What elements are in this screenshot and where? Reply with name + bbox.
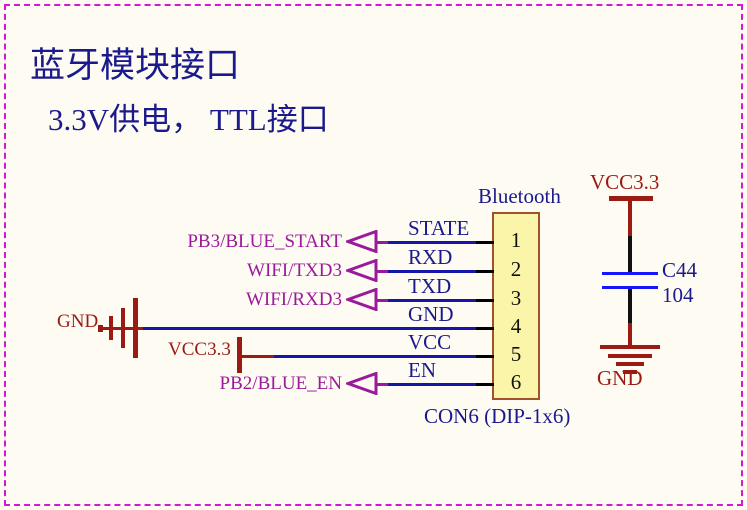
vcc-stem-top (628, 198, 632, 238)
wire-pin5-blue (274, 355, 476, 358)
wire-pin4-blue (143, 327, 476, 330)
net-arrow-wifi-txd3[interactable] (346, 259, 378, 282)
capacitor-designator: C44 (662, 260, 697, 281)
gnd-label-left: GND (57, 312, 98, 331)
net-arrow-pb3-blue-start[interactable] (346, 230, 378, 253)
pin-number-6: 6 (492, 372, 540, 393)
gnd-bar-large-left (133, 298, 138, 358)
gnd-bar-mid-left (121, 308, 125, 348)
wire-pin3-blue (388, 299, 476, 302)
pin-label-rxd: RXD (408, 247, 452, 268)
wire-pin6-blue (388, 383, 476, 386)
net-label-pb3-blue-start[interactable]: PB3/BLUE_START (136, 232, 342, 251)
wire-pin1-blue (388, 241, 476, 244)
net-arrow-pb2-blue-en[interactable] (346, 372, 378, 395)
vcc-label-top: VCC3.3 (590, 172, 659, 193)
pin-label-gnd: GND (408, 304, 454, 325)
schematic-canvas: 蓝牙模块接口 3.3V供电， TTL接口 Bluetooth 1 2 3 4 5… (0, 0, 747, 510)
connector-caption: CON6 (DIP-1x6) (424, 406, 570, 427)
pin-label-txd: TXD (408, 276, 451, 297)
vcc-bar-middle[interactable] (237, 337, 242, 373)
gnd-bar-small-left (109, 316, 113, 340)
pin-label-vcc: VCC (408, 332, 451, 353)
gnd-bar-2-bottom (608, 354, 652, 358)
net-label-wifi-txd3[interactable]: WIFI/TXD3 (136, 261, 342, 280)
net-label-pb2-blue-en[interactable]: PB2/BLUE_EN (136, 374, 342, 393)
wire-pin4-black (476, 327, 494, 330)
pin-number-3: 3 (492, 288, 540, 309)
wire-cap-top (628, 236, 632, 272)
wire-pin2-black (476, 270, 494, 273)
capacitor-plate-top[interactable] (602, 272, 658, 275)
gnd-bar-1-bottom (600, 345, 660, 349)
page-title: 蓝牙模块接口 (30, 48, 240, 83)
page-subtitle: 3.3V供电， TTL接口 (48, 104, 329, 135)
wire-pin5-red (240, 355, 274, 358)
pin-number-4: 4 (492, 316, 540, 337)
gnd-label-bottom: GND (597, 368, 643, 389)
pin-number-2: 2 (492, 259, 540, 280)
wire-pin6-black (476, 383, 494, 386)
capacitor-value: 104 (662, 285, 694, 306)
net-label-wifi-rxd3[interactable]: WIFI/RXD3 (136, 290, 342, 309)
wire-pin5-black (476, 355, 494, 358)
wire-pin2-blue (388, 270, 476, 273)
pin-label-en: EN (408, 360, 436, 381)
pin-number-5: 5 (492, 344, 540, 365)
pin-label-state: STATE (408, 218, 469, 239)
wire-pin1-black (476, 241, 494, 244)
gnd-dot-left (98, 325, 103, 332)
vcc-label-middle: VCC3.3 (168, 340, 231, 359)
wire-pin3-black (476, 299, 494, 302)
wire-cap-bottom (628, 289, 632, 325)
pin-number-1: 1 (492, 230, 540, 251)
net-arrow-wifi-rxd3[interactable] (346, 288, 378, 311)
connector-designator: Bluetooth (478, 186, 561, 207)
